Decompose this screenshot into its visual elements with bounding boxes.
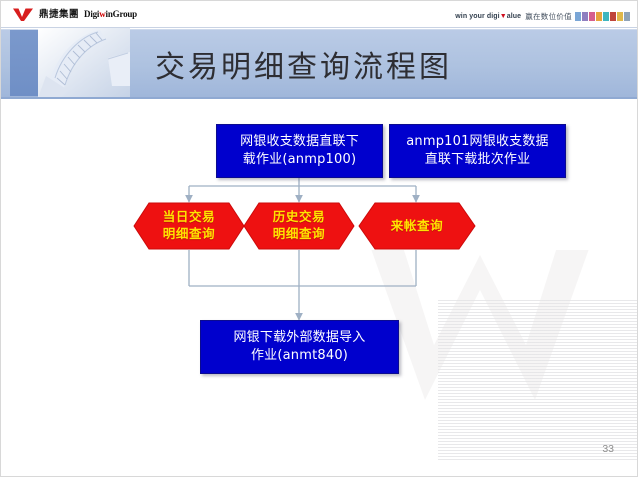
swatch-4 xyxy=(603,12,609,21)
swatch-3 xyxy=(596,12,602,21)
page-title: 交易明细查询流程图 xyxy=(155,42,452,86)
swatch-1 xyxy=(582,12,588,21)
swatch-2 xyxy=(589,12,595,21)
flow-node-incoming-query-text: 来帐查询 xyxy=(358,202,476,250)
brand-tagline: win your digi▼alue 赢在数位价值 xyxy=(455,11,572,22)
flow-node-anmt840-text: 网银下载外部数据导入 作业(anmt840) xyxy=(205,329,394,366)
swatch-5 xyxy=(610,12,616,21)
company-logo: 鼎捷集團 DigiwinGroup xyxy=(12,7,137,22)
flow-node-today-query[interactable]: 当日交易明细查询 xyxy=(133,202,245,250)
swatch-7 xyxy=(624,12,630,21)
header-accent-strip xyxy=(10,30,38,96)
brand-color-swatches xyxy=(575,12,630,21)
slide-canvas: 鼎捷集團 DigiwinGroup win your digi▼alue 赢在数… xyxy=(0,0,638,477)
logo-text-en: DigiwinGroup xyxy=(84,10,137,19)
swatch-6 xyxy=(617,12,623,21)
digiwin-w-mark-icon xyxy=(12,7,34,22)
flow-node-anmt840[interactable]: 网银下载外部数据导入 作业(anmt840) xyxy=(200,320,399,374)
flow-node-today-query-text: 当日交易明细查询 xyxy=(133,202,245,250)
flow-node-incoming-query[interactable]: 来帐查询 xyxy=(358,202,476,250)
tagline-cn: 赢在数位价值 xyxy=(525,11,572,22)
flowchart: 网银收支数据直联下 载作业(anmp100) anmp101网银收支数据 直联下… xyxy=(0,98,638,477)
flow-node-anmp101-text: anmp101网银收支数据 直联下载批次作业 xyxy=(394,133,561,170)
logo-text-cn: 鼎捷集團 xyxy=(39,10,79,20)
flow-node-anmp100[interactable]: 网银收支数据直联下 载作业(anmp100) xyxy=(216,124,383,178)
flow-node-history-query-text: 历史交易明细查询 xyxy=(243,202,355,250)
flow-node-history-query[interactable]: 历史交易明细查询 xyxy=(243,202,355,250)
spiral-staircase-photo xyxy=(38,28,130,98)
swatch-0 xyxy=(575,12,581,21)
tagline-en: win your digi▼alue xyxy=(455,13,521,20)
flow-node-anmp101[interactable]: anmp101网银收支数据 直联下载批次作业 xyxy=(389,124,566,178)
page-number: 33 xyxy=(602,443,614,455)
flow-node-anmp100-text: 网银收支数据直联下 载作业(anmp100) xyxy=(221,133,378,170)
